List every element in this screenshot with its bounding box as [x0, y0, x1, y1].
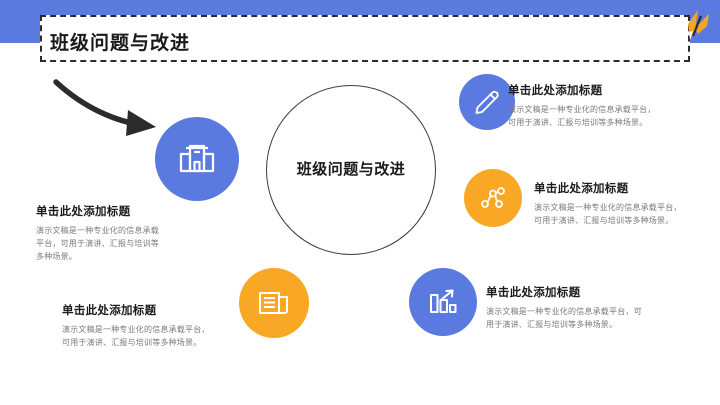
page-title: 班级问题与改进 [50, 28, 190, 55]
item-title: 单击此处添加标题 [36, 203, 166, 219]
item-body: 演示文稿是一种专业化的信息承载平台，可用于演讲、汇报与培训等多种场景。 [534, 201, 684, 227]
center-hub-label: 班级问题与改进 [291, 159, 411, 182]
curved-arrow-icon [52, 72, 182, 140]
text-block-right-middle: 单击此处添加标题 演示文稿是一种专业化的信息承载平台，可用于演讲、汇报与培训等多… [534, 180, 684, 227]
text-block-left-upper: 单击此处添加标题 演示文稿是一种专业化的信息承载平台，可用于演讲、汇报与培训等多… [36, 203, 166, 264]
item-title: 单击此处添加标题 [508, 82, 663, 98]
pencil-icon [668, 4, 712, 44]
item-body: 演示文稿是一种专业化的信息承载平台，可用于演讲、汇报与培训等多种场景。 [508, 103, 663, 129]
icon-bubble-right-lower[interactable] [409, 268, 477, 336]
item-body: 演示文稿是一种专业化的信息承载平台，可用于演讲、汇报与培训等多种场景。 [36, 224, 166, 264]
icon-bubble-left-upper[interactable] [155, 117, 239, 201]
text-block-right-upper: 单击此处添加标题 演示文稿是一种专业化的信息承载平台，可用于演讲、汇报与培训等多… [508, 82, 663, 129]
item-title: 单击此处添加标题 [486, 284, 646, 300]
network-nodes-icon [479, 184, 507, 212]
bar-chart-growth-icon [427, 286, 459, 318]
item-title: 单击此处添加标题 [62, 302, 212, 318]
text-block-right-lower: 单击此处添加标题 演示文稿是一种专业化的信息承载平台，可用于演讲、汇报与培训等多… [486, 284, 646, 331]
text-block-left-lower: 单击此处添加标题 演示文稿是一种专业化的信息承载平台，可用于演讲、汇报与培训等多… [62, 302, 212, 349]
item-title: 单击此处添加标题 [534, 180, 684, 196]
item-body: 演示文稿是一种专业化的信息承载平台，可用于演讲、汇报与培训等多种场景。 [62, 323, 212, 349]
icon-bubble-right-upper[interactable] [459, 74, 515, 130]
building-icon [177, 139, 217, 179]
item-body: 演示文稿是一种专业化的信息承载平台，可用于演讲、汇报与培训等多种场景。 [486, 305, 646, 331]
icon-bubble-left-lower[interactable] [239, 268, 309, 338]
icon-bubble-right-middle[interactable] [464, 169, 522, 227]
pencil-icon [473, 88, 501, 116]
newspaper-icon [257, 286, 291, 320]
presentation-slide: 班级问题与改进 班级问题与改进 [0, 0, 720, 405]
center-hub-circle: 班级问题与改进 [266, 85, 436, 255]
